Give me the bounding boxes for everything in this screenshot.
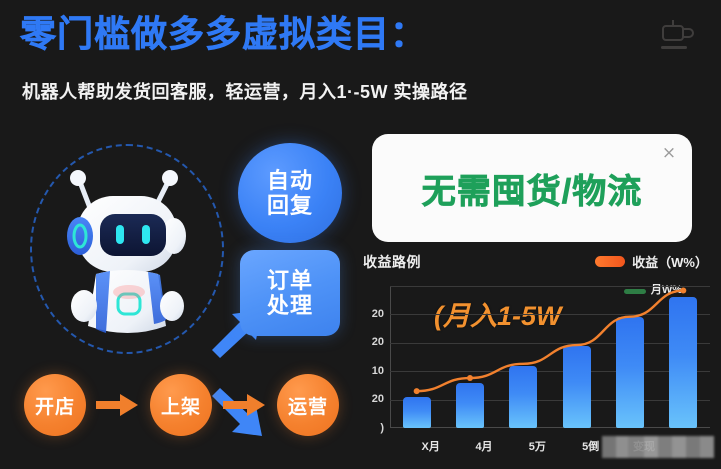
robot-panel [14,138,234,366]
mug-watermark-icon [655,16,699,58]
chart-x-tick: X月 [401,438,461,454]
chart-y-tick: 10 [372,365,384,377]
label-order-process[interactable]: 订单 处理 [240,250,340,336]
chart-y-tick: 20 [372,308,384,320]
poster-root: 零门槛做多多虚拟类目： 机器人帮助发货回客服，轻运营，月入1·-5W 实操路径 [0,0,721,469]
chart-legend: 收益（W%） [595,252,708,271]
label-order-process-line2: 处理 [267,293,313,318]
right-arrow-icon [96,394,138,416]
promo-card: × 无需囤货/物流 [372,134,692,242]
chart-y-tick: 20 [372,393,384,405]
chart-plot-area: 月W% (月入1-5W X月4月5万5倒变现 [390,286,710,428]
step-operate[interactable]: 运营 [277,374,339,436]
chart-y-tick: ) [380,422,384,434]
close-icon[interactable]: × [660,144,678,162]
chart-trend-line [390,286,710,428]
legend-label-revenue: 收益（W%） [632,252,708,271]
robot-illustration [44,156,209,352]
step-list-product[interactable]: 上架 [150,374,212,436]
redacted-label [602,436,714,458]
label-order-process-line1: 订单 [267,268,313,293]
step-open-shop[interactable]: 开店 [24,374,86,436]
step-flow: 开店 上架 运营 [24,374,344,436]
label-auto-reply[interactable]: 自动 回复 [238,143,342,243]
page-subtitle: 机器人帮助发货回客服，轻运营，月入1·-5W 实操路径 [22,78,468,104]
chart-title: 收益路例 [363,252,421,272]
chart-y-axis: 20201020) [358,280,388,428]
right-arrow-icon [223,394,265,416]
label-auto-reply-line2: 回复 [267,193,313,218]
page-title: 零门槛做多多虚拟类目： [20,16,427,52]
legend-swatch-revenue [595,256,625,267]
label-auto-reply-line1: 自动 [267,168,313,193]
chart-x-tick: 5万 [507,438,567,454]
chart-x-tick: 4月 [454,438,514,454]
revenue-chart: 收益路例 收益（W%） 20201020) 月W% (月入1-5W X月4月5万… [358,252,714,466]
chart-y-tick: 20 [372,336,384,348]
promo-card-text: 无需囤货/物流 [372,164,692,213]
